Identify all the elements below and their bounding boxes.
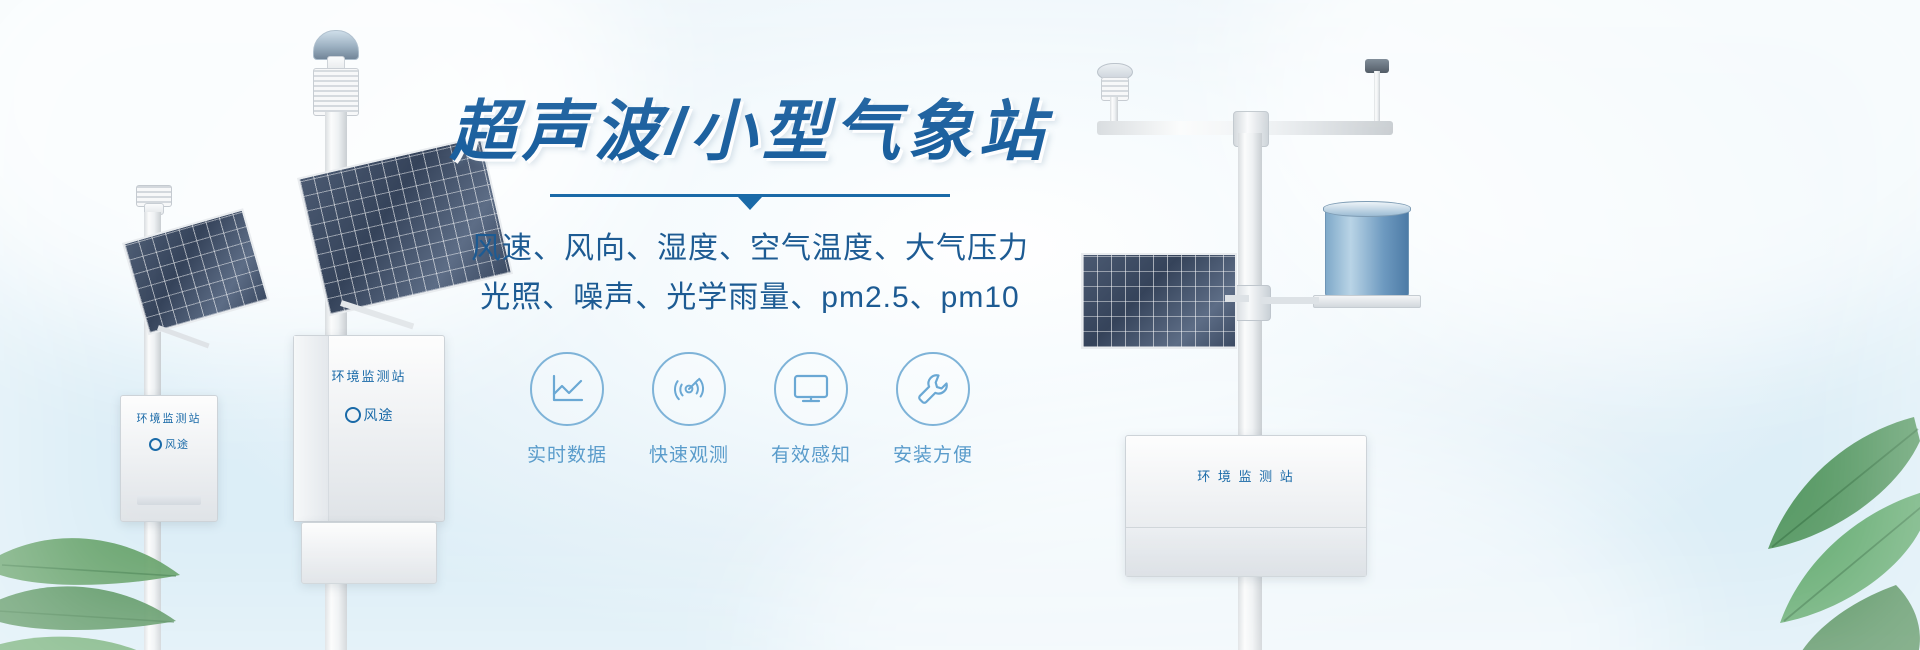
subtitle-line-1: 风速、风向、湿度、空气温度、大气压力: [471, 225, 1029, 274]
radiation-shield: [313, 68, 359, 116]
station-left-small: 环境监测站 风途: [100, 185, 290, 650]
subtitle-line-2: 光照、噪声、光学雨量、pm2.5、pm10: [471, 274, 1029, 323]
feature-item-fast-observation[interactable]: 快速观测: [647, 352, 731, 467]
rain-gauge-bracket: [1261, 297, 1319, 304]
feature-label: 有效感知: [771, 440, 851, 467]
feature-label: 实时数据: [527, 440, 607, 467]
feature-icon-circle: [774, 352, 848, 426]
brand-mark-icon: [149, 438, 162, 451]
feature-icon-circle: [652, 352, 726, 426]
product-banner: 环境监测站 风途 环境监测站 风途: [0, 0, 1920, 650]
enclosure-lower-panel: [1126, 527, 1366, 576]
rain-gauge-shelf: [1313, 295, 1421, 308]
feature-label: 安装方便: [893, 440, 973, 467]
rain-gauge-rim: [1323, 201, 1411, 217]
solar-panel: [1081, 253, 1237, 349]
rain-gauge-barrel: [1325, 205, 1409, 299]
enclosure-label: 环境监测站: [121, 410, 217, 426]
leaf-decoration-right: [1596, 371, 1920, 650]
page-title: 超声波/小型气象站: [450, 96, 1050, 167]
feature-icon-circle: [530, 352, 604, 426]
feature-label: 快速观测: [649, 440, 729, 467]
enclosure-box: 环 境 监 测 站: [1125, 435, 1367, 577]
feature-list: 实时数据 快速观测: [525, 352, 975, 467]
subtitle-block: 风速、风向、湿度、空气温度、大气压力 光照、噪声、光学雨量、pm2.5、pm10: [471, 225, 1029, 322]
brand-logo: 风途: [121, 436, 217, 452]
title-divider: [550, 191, 950, 209]
line-chart-icon: [549, 372, 585, 406]
feature-item-realtime-data[interactable]: 实时数据: [525, 352, 609, 467]
brand-text: 风途: [165, 436, 189, 452]
feature-item-effective-sensing[interactable]: 有效感知: [769, 352, 853, 467]
enclosure-base: [301, 522, 437, 584]
brand-mark-icon: [345, 407, 361, 423]
radar-signal-icon: [671, 371, 707, 407]
station-right: 环 境 监 测 站: [1075, 55, 1455, 650]
feature-item-easy-installation[interactable]: 安装方便: [891, 352, 975, 467]
enclosure-vent: [137, 495, 201, 505]
enclosure-door-seam: [294, 336, 329, 521]
panel-support-arm: [1225, 295, 1249, 302]
enclosure-label: 环 境 监 测 站: [1126, 466, 1366, 485]
feature-icon-circle: [896, 352, 970, 426]
divider-triangle-icon: [738, 197, 762, 210]
brand-text: 风途: [364, 405, 394, 425]
banner-content: 超声波/小型气象站 风速、风向、湿度、空气温度、大气压力 光照、噪声、光学雨量、…: [440, 96, 1060, 467]
monitor-screen-icon: [792, 373, 830, 405]
enclosure-box: 环境监测站 风途: [293, 335, 445, 522]
enclosure-box: 环境监测站 风途: [120, 395, 218, 522]
panel-support-arm: [157, 325, 209, 348]
wrench-tool-icon: [915, 371, 951, 407]
